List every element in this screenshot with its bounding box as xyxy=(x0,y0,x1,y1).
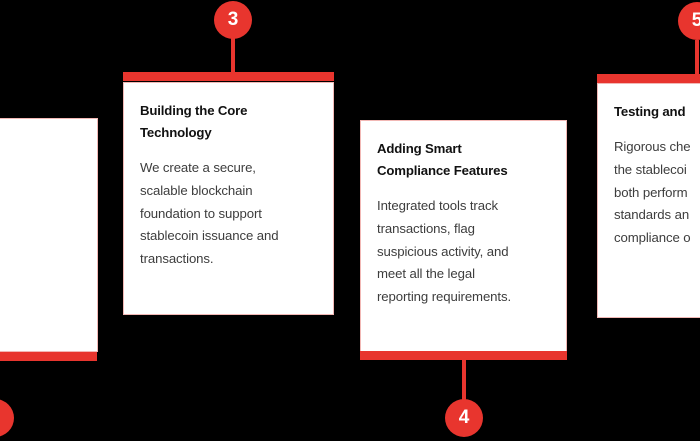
step-card-2-accent-bar xyxy=(0,352,97,361)
step-connector-4 xyxy=(462,358,466,404)
step-badge-5-number: 5 xyxy=(692,10,700,32)
step-card-3[interactable]: Building the Core Technology We create a… xyxy=(123,82,334,315)
step-connector-5 xyxy=(695,40,699,75)
step-card-4[interactable]: Adding Smart Compliance Features Integra… xyxy=(360,120,567,352)
timeline-diagram: Framework gns a roadmap ompliance e ture… xyxy=(0,0,700,441)
step-badge-5[interactable]: 5 xyxy=(678,2,700,40)
step-card-5-body: Rigorous che the stablecoi both perform … xyxy=(614,136,700,250)
step-badge-4[interactable]: 4 xyxy=(445,399,483,437)
step-card-2-body: gns a roadmap ompliance e tures. xyxy=(0,171,80,285)
step-card-5[interactable]: Testing and Rigorous che the stablecoi b… xyxy=(597,83,700,318)
step-card-4-body: Integrated tools track transactions, fla… xyxy=(377,195,550,309)
step-card-3-accent-bar xyxy=(123,72,334,81)
step-badge-partial-bottom-left[interactable] xyxy=(0,399,14,437)
step-badge-3-number: 3 xyxy=(228,9,239,31)
step-card-5-content: Testing and Rigorous che the stablecoi b… xyxy=(597,83,700,264)
step-card-4-title: Adding Smart Compliance Features xyxy=(377,138,550,182)
step-card-3-content: Building the Core Technology We create a… xyxy=(123,82,334,285)
step-badge-3[interactable]: 3 xyxy=(214,1,252,39)
step-card-5-accent-bar xyxy=(597,74,700,83)
step-card-5-title: Testing and xyxy=(614,101,700,123)
step-card-2-title: Framework xyxy=(0,136,80,158)
step-card-4-content: Adding Smart Compliance Features Integra… xyxy=(360,120,567,323)
step-connector-3 xyxy=(231,38,235,73)
step-card-3-body: We create a secure, scalable blockchain … xyxy=(140,157,317,271)
step-card-2-content: Framework gns a roadmap ompliance e ture… xyxy=(0,118,97,299)
step-badge-4-number: 4 xyxy=(459,407,470,429)
step-card-3-title: Building the Core Technology xyxy=(140,100,317,144)
step-card-2[interactable]: Framework gns a roadmap ompliance e ture… xyxy=(0,118,97,352)
